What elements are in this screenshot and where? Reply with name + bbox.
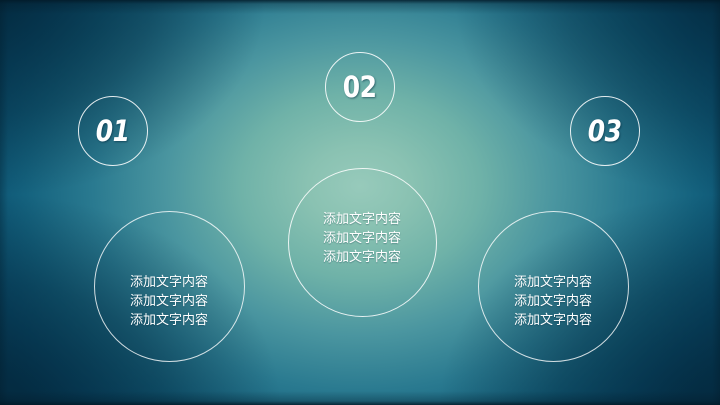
badge-number-01: 01 (96, 117, 130, 146)
content-circle-center[interactable]: 添加文字内容 添加文字内容 添加文字内容 (288, 168, 437, 317)
content-line: 添加文字内容 (130, 311, 208, 330)
content-line: 添加文字内容 (323, 210, 401, 229)
badge-circle-02[interactable]: 02 (325, 52, 395, 122)
content-circle-left[interactable]: 添加文字内容 添加文字内容 添加文字内容 (94, 211, 245, 362)
badge-circle-01[interactable]: 01 (78, 96, 148, 166)
content-text-right: 添加文字内容 添加文字内容 添加文字内容 (514, 273, 592, 330)
slide-canvas: 01 02 03 添加文字内容 添加文字内容 添加文字内容 添加文字内容 添加文… (0, 0, 720, 405)
content-line: 添加文字内容 (130, 273, 208, 292)
content-line: 添加文字内容 (323, 229, 401, 248)
content-line: 添加文字内容 (514, 292, 592, 311)
content-circle-right[interactable]: 添加文字内容 添加文字内容 添加文字内容 (478, 211, 629, 362)
content-line: 添加文字内容 (514, 273, 592, 292)
content-line: 添加文字内容 (130, 292, 208, 311)
badge-number-03: 03 (588, 117, 622, 146)
content-line: 添加文字内容 (514, 311, 592, 330)
badge-circle-03[interactable]: 03 (570, 96, 640, 166)
content-line: 添加文字内容 (323, 248, 401, 267)
content-text-center: 添加文字内容 添加文字内容 添加文字内容 (323, 210, 401, 267)
badge-number-02: 02 (343, 73, 377, 102)
content-text-left: 添加文字内容 添加文字内容 添加文字内容 (130, 273, 208, 330)
